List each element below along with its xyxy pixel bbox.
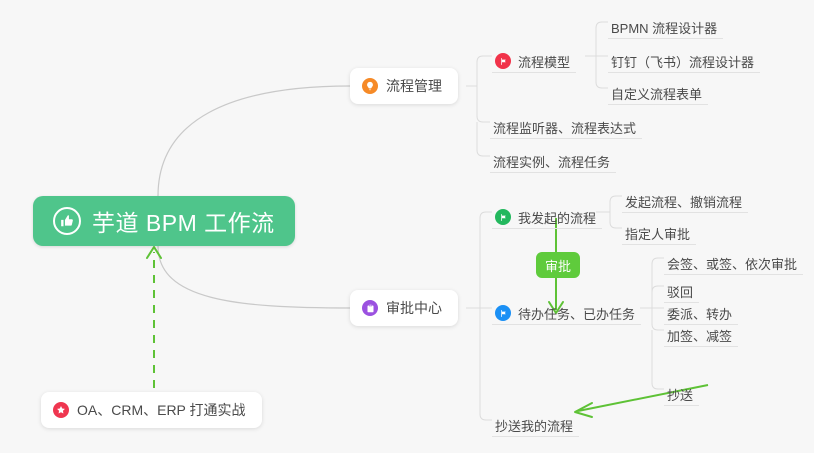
node-listener-expression[interactable]: 流程监听器、流程表达式 [490,108,642,139]
node-listener-expression-label: 流程监听器、流程表达式 [493,122,636,135]
node-add-remove-sign[interactable]: 加签、减签 [664,316,738,347]
link-root-to-approval-center [158,246,350,308]
annotation-arrow-up [147,247,161,388]
node-instance-task[interactable]: 流程实例、流程任务 [490,142,616,173]
node-instance-task-label: 流程实例、流程任务 [493,156,610,169]
link-todo-reject [652,286,664,308]
branch-approval-center[interactable]: 审批中心 [350,290,458,326]
footer-node-label: OA、CRM、ERP 打通实战 [77,400,246,420]
approval-tag[interactable]: 审批 [536,252,580,278]
root-label: 芋道 BPM 工作流 [92,204,275,238]
thumbs-up-icon [53,207,81,235]
link-pm-branch-listener [477,86,490,122]
approval-tag-label: 审批 [545,256,571,275]
node-cc-to-me-processes[interactable]: 抄送我的流程 [492,406,579,437]
link-root-to-process-management [158,86,350,196]
node-assignee-approval-label: 指定人审批 [625,228,690,241]
flag-icon [495,53,511,69]
link-my-assignee [610,212,622,228]
node-custom-process-form-label: 自定义流程表单 [611,88,702,101]
node-process-model-label: 流程模型 [518,56,570,69]
node-cc-to-me-processes-label: 抄送我的流程 [495,420,573,433]
star-icon [53,402,69,418]
node-countersign-or-sequential[interactable]: 会签、或签、依次审批 [664,244,803,275]
node-dingtalk-feishu-designer-label: 钉钉（飞书）流程设计器 [611,56,754,69]
node-todo-done-tasks[interactable]: 待办任务、已办任务 [492,294,641,325]
node-process-model[interactable]: 流程模型 [492,42,576,73]
node-bpmn-designer-label: BPMN 流程设计器 [611,22,717,35]
root-node[interactable]: 芋道 BPM 工作流 [33,196,295,246]
link-model-bpmn [596,22,608,56]
lightbulb-icon [362,78,378,94]
link-pm-branch-instance [477,122,490,156]
link-my-start-cancel [610,196,622,212]
clipboard-icon [362,300,378,316]
node-start-cancel-process-label: 发起流程、撤销流程 [625,196,742,209]
node-my-started-processes-label: 我发起的流程 [518,212,596,225]
node-add-remove-sign-label: 加签、减签 [667,330,732,343]
link-ac-ccme [480,308,492,420]
flag-icon [495,209,511,225]
node-assignee-approval[interactable]: 指定人审批 [622,214,696,245]
node-bpmn-designer[interactable]: BPMN 流程设计器 [608,8,723,39]
flag-icon [495,305,511,321]
node-countersign-or-sequential-label: 会签、或签、依次审批 [667,258,797,271]
node-start-cancel-process[interactable]: 发起流程、撤销流程 [622,182,748,213]
node-dingtalk-feishu-designer[interactable]: 钉钉（飞书）流程设计器 [608,42,760,73]
link-todo-cc [652,330,664,389]
footer-node-integration-practice[interactable]: OA、CRM、ERP 打通实战 [41,392,262,428]
node-custom-process-form[interactable]: 自定义流程表单 [608,74,708,105]
branch-process-management-label: 流程管理 [386,76,442,96]
node-carbon-copy-label: 抄送 [667,389,693,402]
node-todo-done-tasks-label: 待办任务、已办任务 [518,308,635,321]
node-carbon-copy[interactable]: 抄送 [664,375,699,406]
link-pm-branch-model [477,56,492,86]
link-model-customform [596,56,608,88]
link-todo-addsign [652,308,664,330]
branch-approval-center-label: 审批中心 [386,298,442,318]
link-ac-my-started [480,212,492,308]
branch-process-management[interactable]: 流程管理 [350,68,458,104]
link-todo-countersign [652,258,664,308]
mindmap-canvas: 芋道 BPM 工作流 流程管理 流程模型 BPMN 流程设计器 钉钉（飞书）流程… [0,0,814,453]
node-my-started-processes[interactable]: 我发起的流程 [492,198,602,229]
